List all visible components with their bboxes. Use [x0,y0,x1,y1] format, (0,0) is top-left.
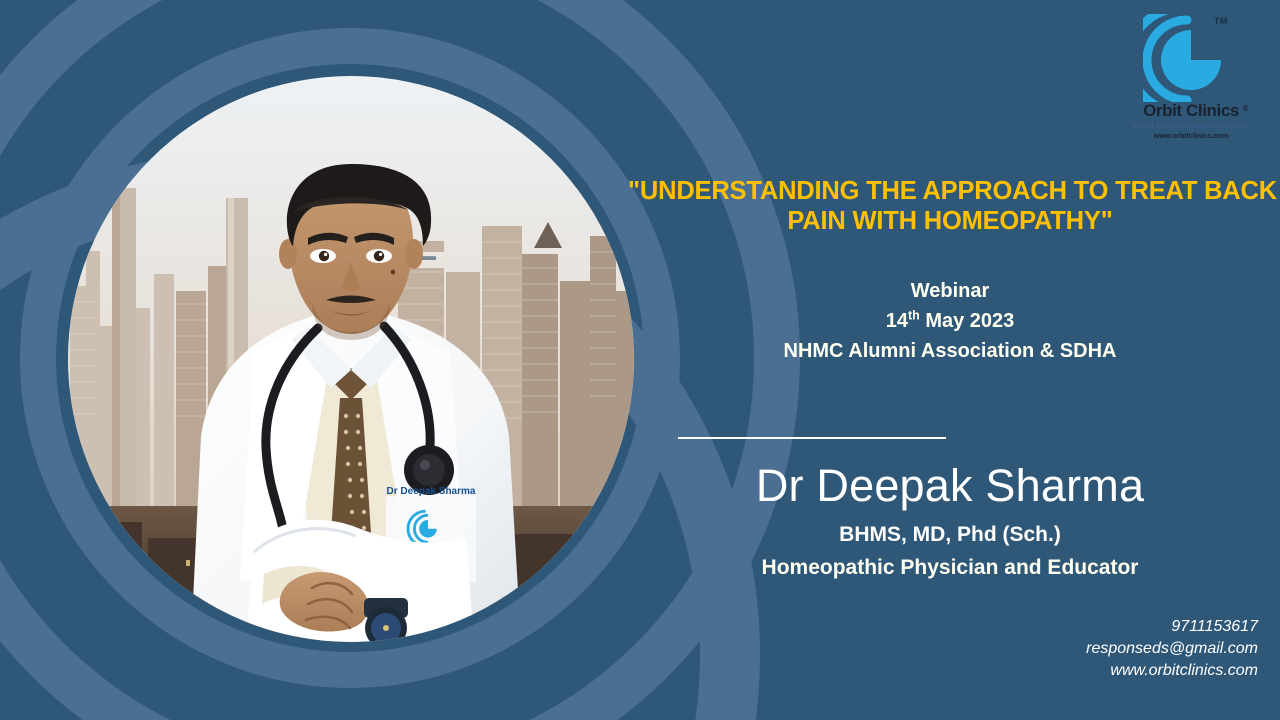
trademark-symbol: TM [1214,16,1228,26]
event-type: Webinar [620,276,1280,306]
event-organizers: NHMC Alumni Association & SDHA [620,336,1280,366]
speaker-details: Dr Deepak Sharma BHMS, MD, Phd (Sch.) Ho… [620,458,1280,584]
logo-url: www.orbitclinics.com [1130,131,1252,141]
logo-tagline: World Class Homeopathic Clinics [1130,121,1252,131]
contact-phone[interactable]: 9711153617 [1086,616,1258,638]
webinar-title: "UNDERSTANDING THE APPROACH TO TREAT BAC… [620,176,1280,236]
registered-symbol: ® [1242,100,1248,118]
speaker-role: Homeopathic Physician and Educator [620,552,1280,584]
speaker-name: Dr Deepak Sharma [620,458,1280,514]
speaker-qualifications: BHMS, MD, Phd (Sch.) [620,518,1280,552]
speaker-photo: Dr Deepak Sharma Orbit Clinics [68,76,634,642]
event-details: Webinar 14th May 2023 NHMC Alumni Associ… [620,276,1280,366]
title-line-1: "UNDERSTANDING THE APPROACH TO TREAT BAC… [628,176,1272,206]
logo-wordmark-text: Orbit Clinics [1143,101,1239,120]
svg-text:Dr Deepak Sharma: Dr Deepak Sharma [387,486,476,497]
logo-wordmark-wrap: Orbit Clinics® [1130,102,1252,121]
event-date: 14th May 2023 [620,306,1280,336]
title-line-2: PAIN WITH HOMEOPATHY" [628,206,1272,236]
contact-email[interactable]: responseds@gmail.com [1086,638,1258,660]
logo-wordmark: Orbit Clinics® [1143,102,1239,120]
event-date-rest: May 2023 [920,310,1015,332]
contact-website[interactable]: www.orbitclinics.com [1086,660,1258,682]
section-divider [678,437,946,439]
orbit-clinics-logo: TM Orbit Clinics® World Class Homeopathi… [1130,14,1252,140]
orbit-arcs-logo-icon: TM [1130,14,1252,102]
event-date-day: 14 [886,310,908,332]
contact-details: 9711153617 responseds@gmail.com www.orbi… [1086,616,1258,682]
event-date-suffix: th [908,308,920,322]
webinar-slide: Dr Deepak Sharma Orbit Clinics [0,0,1280,720]
